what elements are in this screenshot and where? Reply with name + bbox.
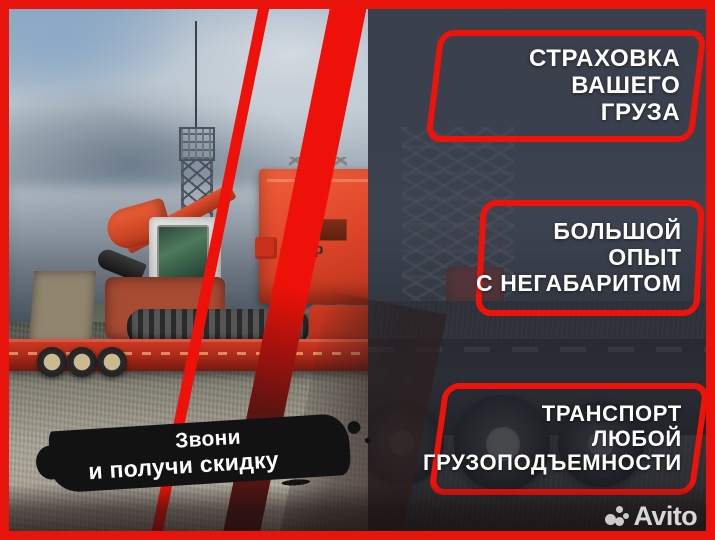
- antenna-mast-platform: [179, 127, 215, 161]
- benefit-box-experience: БОЛЬШОЙ ОПЫТ С НЕГАБАРИТОМ: [475, 200, 705, 316]
- rig-cabin-glass: [157, 225, 209, 281]
- avito-logo-icon: [605, 506, 629, 528]
- benefit-line: ЛЮБОЙ: [592, 427, 682, 452]
- benefit-line: С НЕГАБАРИТОМ: [476, 271, 682, 297]
- trailer-wheel: [37, 347, 67, 377]
- advertisement-banner: SOPARO group СТРАХОВКА: [0, 0, 715, 540]
- benefit-line: ТРАНСПОРТ: [542, 402, 682, 427]
- benefit-line: ОПЫТ: [609, 245, 682, 271]
- benefit-line: ГРУЗОПОДЪЕМНОСТИ: [423, 451, 682, 476]
- benefit-box-capacity: ТРАНСПОРТ ЛЮБОЙ ГРУЗОПОДЪЕМНОСТИ: [428, 383, 710, 495]
- benefit-line: СТРАХОВКА: [529, 46, 680, 73]
- antenna-mast-pole: [195, 21, 197, 139]
- brand-mark-icon: [255, 237, 277, 259]
- trailer-wheel: [97, 347, 127, 377]
- benefit-line: БОЛЬШОЙ: [554, 219, 682, 245]
- avito-wordmark: Avito: [634, 503, 698, 530]
- trailer-wheel: [67, 347, 97, 377]
- avito-watermark: Avito: [605, 503, 698, 530]
- benefit-line: ГРУЗА: [600, 99, 680, 126]
- benefit-line: ВАШЕГО: [571, 73, 680, 100]
- benefit-box-insurance: СТРАХОВКА ВАШЕГО ГРУЗА: [425, 30, 707, 142]
